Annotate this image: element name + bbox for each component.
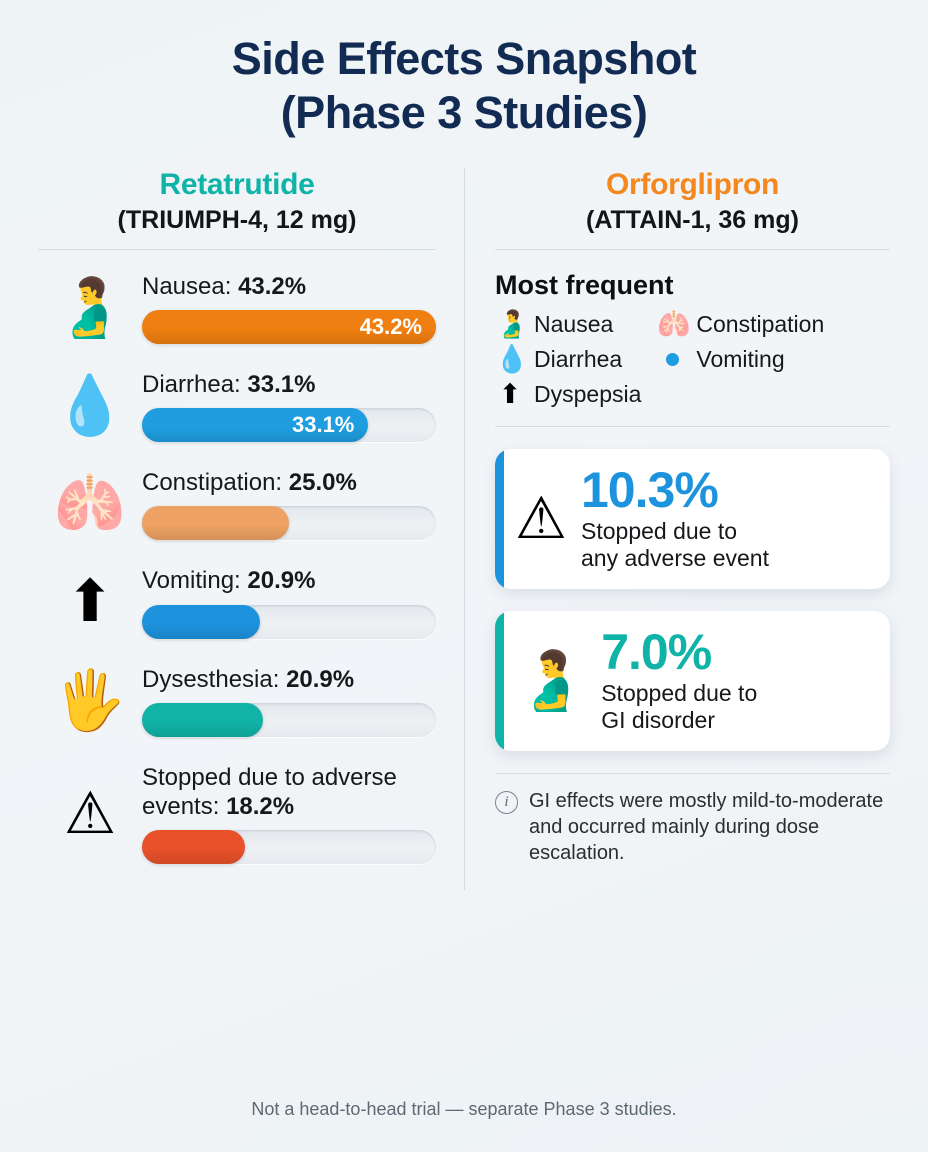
most-frequent-item: 🫃Nausea <box>495 311 641 338</box>
column-retatrutide: Retatrutide (TRIUMPH-4, 12 mg) 🫃Nausea: … <box>38 168 464 890</box>
side-effect-value: 33.1% <box>247 371 315 398</box>
stat-card: ⚠10.3%Stopped due toany adverse event <box>495 449 890 589</box>
side-effect-value: 43.2% <box>238 273 306 300</box>
stat-card-description: Stopped due toany adverse event <box>581 518 870 573</box>
vomiting-arrow-icon: ⬆ <box>38 573 142 631</box>
stat-card-desc-line-1: Stopped due to <box>601 680 870 708</box>
warning-error-icon: ⚠ <box>515 490 567 548</box>
most-frequent-label: Vomiting <box>696 346 784 373</box>
most-frequent-list: 🫃Nausea🫁Constipation💧DiarrheaVomiting⬆Dy… <box>495 311 890 408</box>
most-frequent-item: 🫁Constipation <box>657 311 824 338</box>
orforglipron-study-label: (ATTAIN-1, 36 mg) <box>495 205 890 235</box>
side-effect-value: 20.9% <box>286 666 354 693</box>
side-effect-label: Dysesthesia: 20.9% <box>142 665 436 694</box>
stat-card-body: 7.0%Stopped due toGI disorder <box>601 627 870 735</box>
most-frequent-item: ⬆Dyspepsia <box>495 381 641 408</box>
progress-fill <box>142 506 289 540</box>
stomach-icon: 🫃 <box>515 652 587 710</box>
progress-fill <box>142 703 263 737</box>
title-line-1: Side Effects Snapshot <box>232 33 697 84</box>
progress-fill: 43.2% <box>142 310 436 344</box>
side-effect-body: Constipation: 25.0% <box>142 468 436 540</box>
side-effect-label: Diarrhea: 33.1% <box>142 370 436 399</box>
stat-card-desc-line-2: GI disorder <box>601 707 870 735</box>
progress-track: 33.1% <box>142 408 436 442</box>
side-effect-name: Dysesthesia: <box>142 666 279 693</box>
intestines-icon: 🫁 <box>38 475 142 533</box>
side-effect-name: Vomiting: <box>142 567 241 594</box>
most-frequent-item: Vomiting <box>657 346 824 373</box>
side-effect-row: 🫁Constipation: 25.0% <box>38 468 436 540</box>
blue-dot-bullet-icon <box>657 353 687 366</box>
side-effect-value: 18.2% <box>226 793 294 820</box>
side-effect-body: Vomiting: 20.9% <box>142 566 436 638</box>
stat-card-body: 10.3%Stopped due toany adverse event <box>581 465 870 573</box>
progress-track <box>142 506 436 540</box>
most-frequent-section: Most frequent 🫃Nausea🫁Constipation💧Diarr… <box>495 250 890 427</box>
stat-card-list: ⚠10.3%Stopped due toany adverse event🫃7.… <box>495 427 890 751</box>
stat-card: 🫃7.0%Stopped due toGI disorder <box>495 611 890 751</box>
title-line-2: (Phase 3 Studies) <box>40 86 888 140</box>
side-effect-label: Vomiting: 20.9% <box>142 566 436 595</box>
retatrutide-header: Retatrutide (TRIUMPH-4, 12 mg) <box>38 168 436 250</box>
info-icon: i <box>495 791 518 814</box>
most-frequent-label: Diarrhea <box>534 346 622 373</box>
side-effect-value: 20.9% <box>247 567 315 594</box>
retatrutide-row-list: 🫃Nausea: 43.2%43.2%💧Diarrhea: 33.1%33.1%… <box>38 250 436 865</box>
progress-track <box>142 703 436 737</box>
water-wave-icon: 💧 <box>38 377 142 435</box>
page-title: Side Effects Snapshot (Phase 3 Studies) <box>0 0 928 140</box>
stomach-icon: 🫃 <box>38 279 142 337</box>
most-frequent-label: Nausea <box>534 311 613 338</box>
stat-card-desc-line-2: any adverse event <box>581 545 870 573</box>
adverse-event-person-icon: ⚠ <box>38 785 142 843</box>
column-orforglipron: Orforglipron (ATTAIN-1, 36 mg) Most freq… <box>464 168 890 890</box>
orforglipron-header: Orforglipron (ATTAIN-1, 36 mg) <box>495 168 890 250</box>
progress-inline-value: 43.2% <box>360 314 422 340</box>
retatrutide-drug-name: Retatrutide <box>38 168 436 203</box>
gi-effects-note-text: GI effects were mostly mild-to-moderate … <box>529 788 890 866</box>
dyspepsia-arrow-icon: ⬆ <box>495 381 525 408</box>
progress-fill: 33.1% <box>142 408 368 442</box>
most-frequent-title: Most frequent <box>495 270 890 301</box>
side-effect-label: Stopped due to adverse events: 18.2% <box>142 763 436 822</box>
intestines-icon: 🫁 <box>657 311 687 338</box>
side-effect-row: 🖐Dysesthesia: 20.9% <box>38 665 436 737</box>
tingling-hand-icon: 🖐 <box>38 672 142 730</box>
progress-fill <box>142 605 260 639</box>
orforglipron-drug-name: Orforglipron <box>495 168 890 203</box>
side-effect-body: Diarrhea: 33.1%33.1% <box>142 370 436 442</box>
side-effect-row: 🫃Nausea: 43.2%43.2% <box>38 272 436 344</box>
side-effect-body: Stopped due to adverse events: 18.2% <box>142 763 436 865</box>
stomach-icon: 🫃 <box>495 311 525 338</box>
side-effect-row: 💧Diarrhea: 33.1%33.1% <box>38 370 436 442</box>
most-frequent-item: 💧Diarrhea <box>495 346 641 373</box>
most-frequent-label: Constipation <box>696 311 824 338</box>
side-effect-name: Constipation: <box>142 469 282 496</box>
side-effect-row: ⬆Vomiting: 20.9% <box>38 566 436 638</box>
side-effect-row: ⚠Stopped due to adverse events: 18.2% <box>38 763 436 865</box>
progress-track <box>142 830 436 864</box>
progress-fill <box>142 830 245 864</box>
comparison-columns: Retatrutide (TRIUMPH-4, 12 mg) 🫃Nausea: … <box>0 168 928 890</box>
bullet-dot <box>666 353 679 366</box>
side-effect-name: Diarrhea: <box>142 371 241 398</box>
most-frequent-label: Dyspepsia <box>534 381 641 408</box>
side-effect-name: Nausea: <box>142 273 231 300</box>
footer-disclaimer: Not a head-to-head trial — separate Phas… <box>0 1099 928 1120</box>
stat-card-desc-line-1: Stopped due to <box>581 518 870 546</box>
gi-effects-note: i GI effects were mostly mild-to-moderat… <box>495 773 890 866</box>
infographic-root: Side Effects Snapshot (Phase 3 Studies) … <box>0 0 928 1152</box>
stat-card-value: 10.3% <box>581 465 870 516</box>
progress-track: 43.2% <box>142 310 436 344</box>
stat-card-description: Stopped due toGI disorder <box>601 680 870 735</box>
side-effect-label: Nausea: 43.2% <box>142 272 436 301</box>
retatrutide-study-label: (TRIUMPH-4, 12 mg) <box>38 205 436 235</box>
stat-card-value: 7.0% <box>601 627 870 678</box>
side-effect-body: Nausea: 43.2%43.2% <box>142 272 436 344</box>
side-effect-label: Constipation: 25.0% <box>142 468 436 497</box>
progress-inline-value: 33.1% <box>292 412 354 438</box>
water-wave-icon: 💧 <box>495 346 525 373</box>
side-effect-value: 25.0% <box>289 469 357 496</box>
progress-track <box>142 605 436 639</box>
side-effect-body: Dysesthesia: 20.9% <box>142 665 436 737</box>
